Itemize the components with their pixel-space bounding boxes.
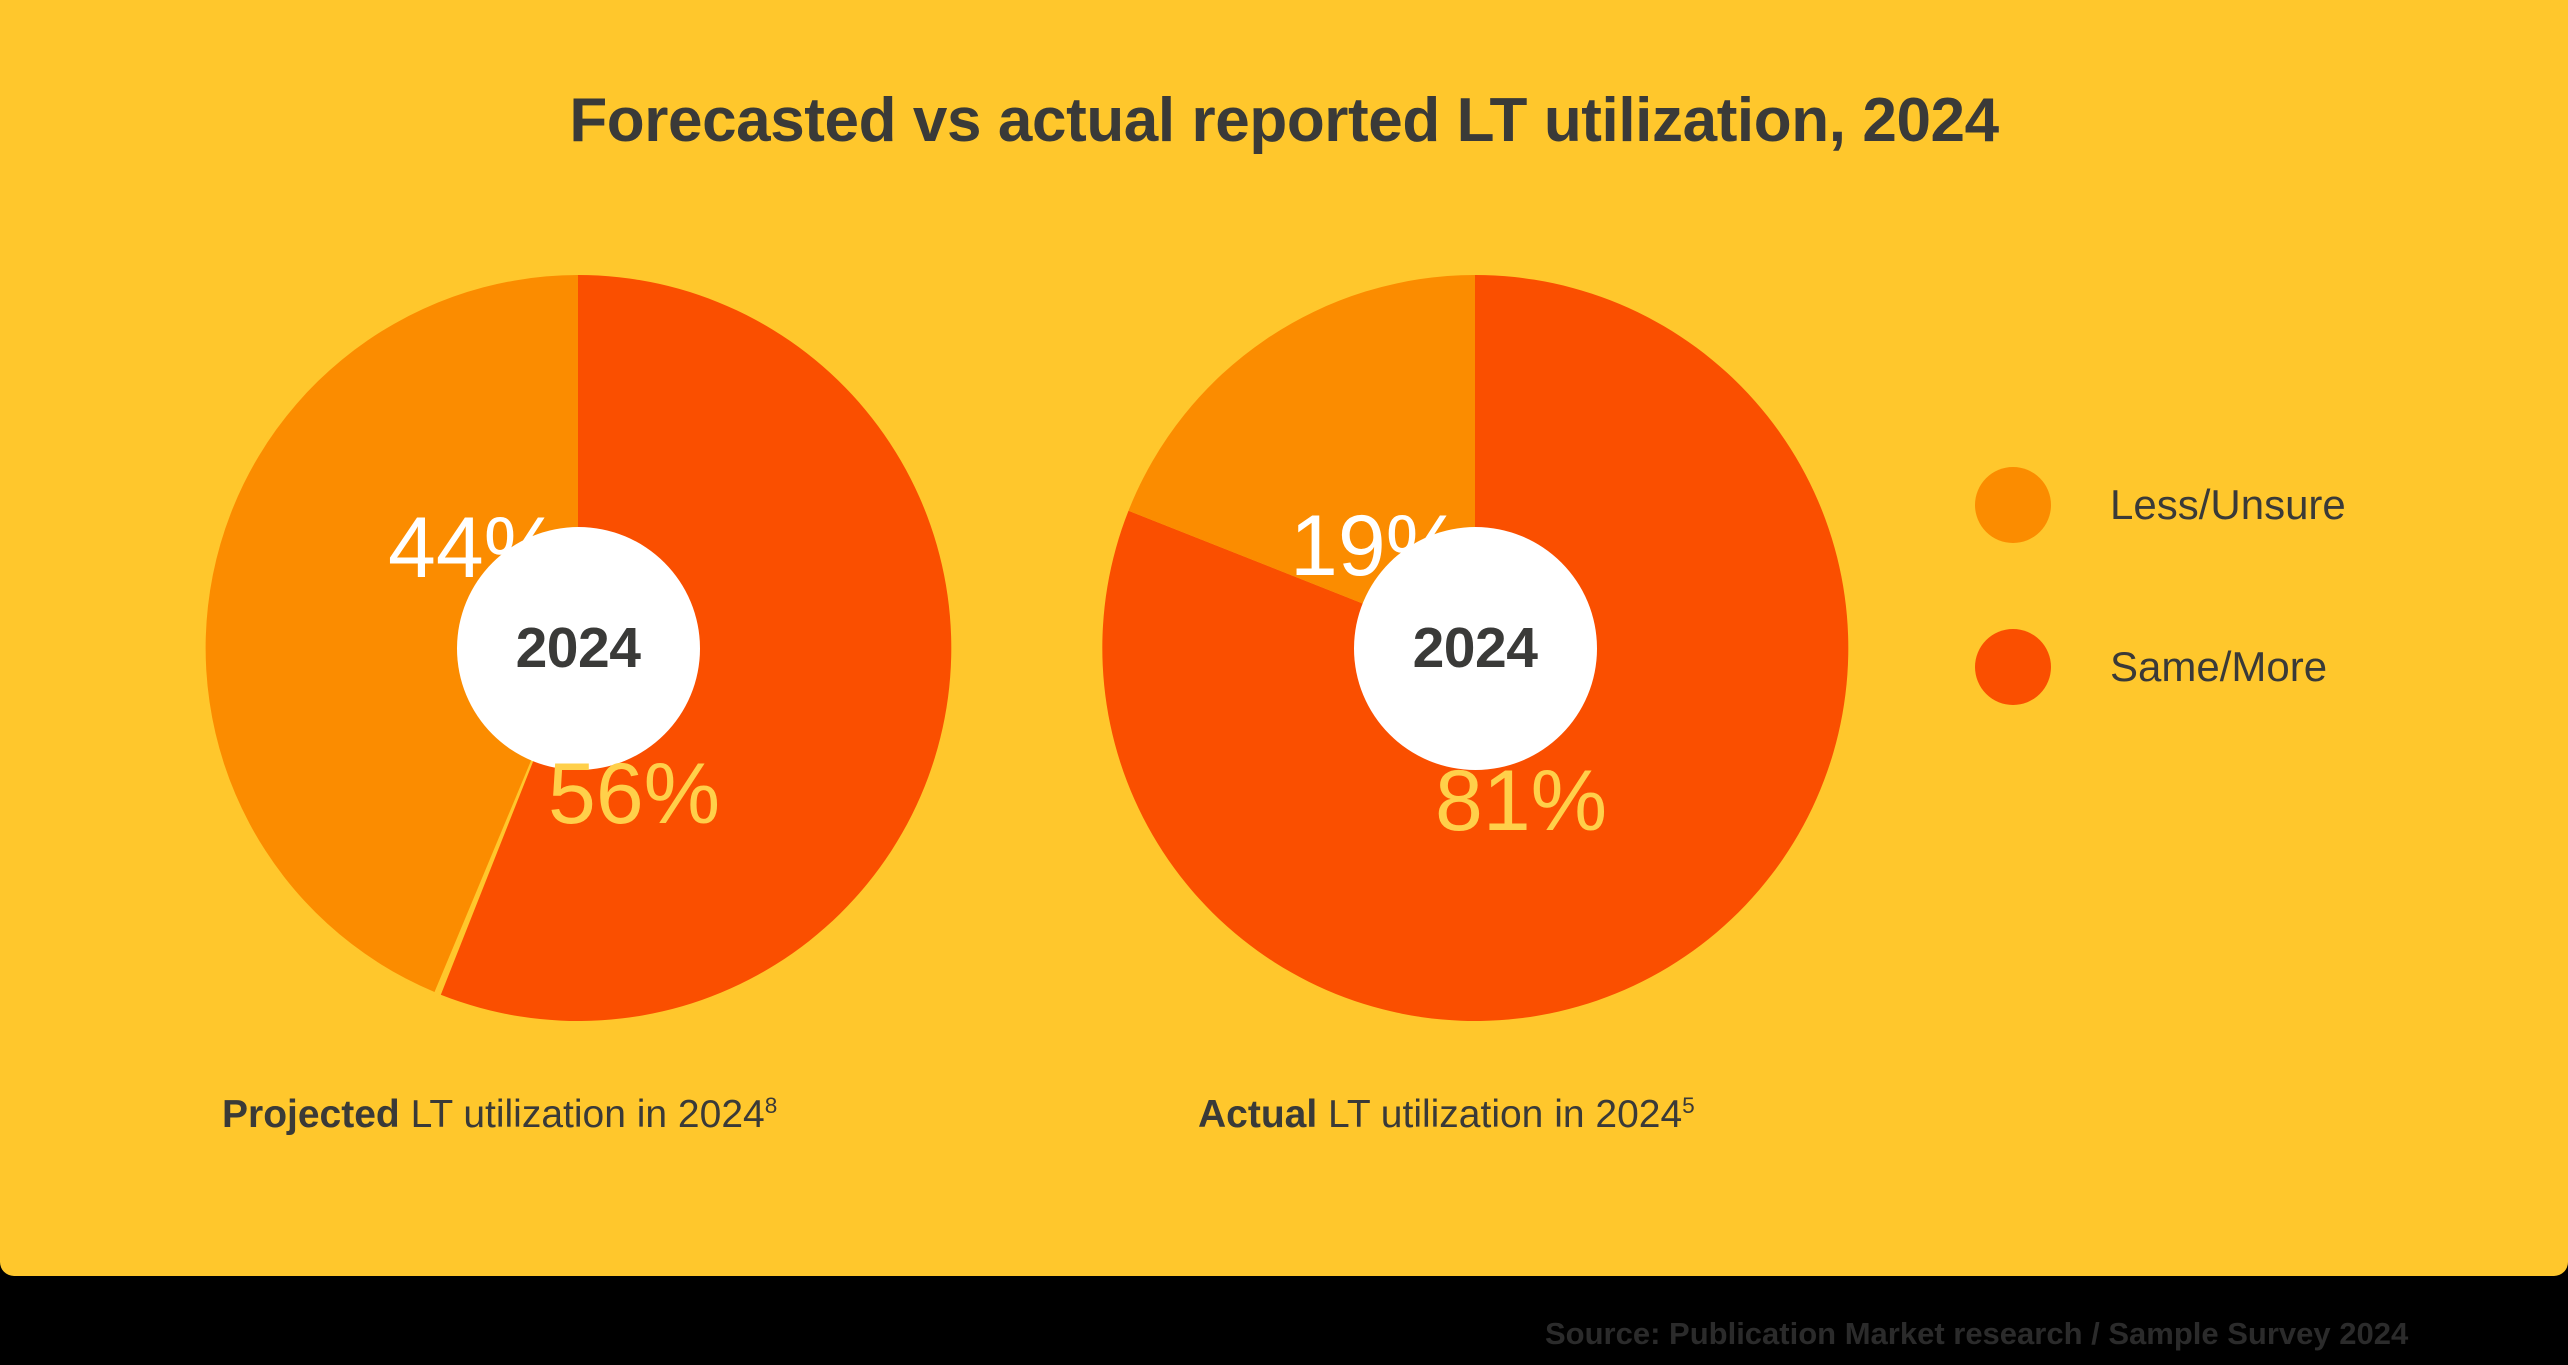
pie-label-actual-less-unsure: 19%	[1290, 503, 1462, 589]
legend-swatch-icon-less-unsure	[1975, 467, 2051, 543]
legend-label-less-unsure: Less/Unsure	[2110, 484, 2346, 526]
legend-label-same-more: Same/More	[2110, 646, 2327, 688]
pie-label-projected-same-more: 56%	[548, 751, 720, 837]
pie-caption-actual-text: LT utilization in 2024	[1317, 1093, 1682, 1136]
pie-caption-actual: Actual LT utilization in 20245	[1198, 1095, 1695, 1134]
pie-label-actual-same-more: 81%	[1435, 758, 1607, 844]
pie-figure-projected: 2024 44% 56%	[203, 273, 953, 1023]
chart-legend: Less/Unsure Same/More	[1975, 466, 2346, 706]
source-note: Source: Publication Market research / Sa…	[1545, 1318, 2408, 1349]
pie-caption-projected-text: LT utilization in 2024	[400, 1093, 765, 1136]
legend-item-same-more[interactable]: Same/More	[1975, 628, 2346, 706]
pie-caption-actual-emphasis: Actual	[1198, 1093, 1317, 1136]
pie-caption-projected-footnote: 8	[765, 1093, 778, 1118]
legend-swatch-icon-same-more	[1975, 629, 2051, 705]
pie-caption-projected-emphasis: Projected	[222, 1093, 400, 1136]
legend-item-less-unsure[interactable]: Less/Unsure	[1975, 466, 2346, 544]
chart-card: Forecasted vs actual reported LT utiliza…	[0, 0, 2568, 1276]
pie-chart-actual: 2024 19% 81%	[1100, 273, 1850, 1023]
page-title: Forecasted vs actual reported LT utiliza…	[0, 88, 2568, 153]
pie-figure-actual: 2024 19% 81%	[1100, 273, 1850, 1023]
pie-caption-actual-footnote: 5	[1682, 1093, 1695, 1118]
pie-hub-label-projected: 2024	[516, 620, 641, 677]
pie-caption-projected: Projected LT utilization in 20248	[222, 1095, 777, 1134]
pie-hub-label-actual: 2024	[1413, 620, 1538, 677]
pie-chart-projected: 2024 44% 56%	[203, 273, 953, 1023]
pie-label-projected-less-unsure: 44%	[388, 505, 560, 591]
